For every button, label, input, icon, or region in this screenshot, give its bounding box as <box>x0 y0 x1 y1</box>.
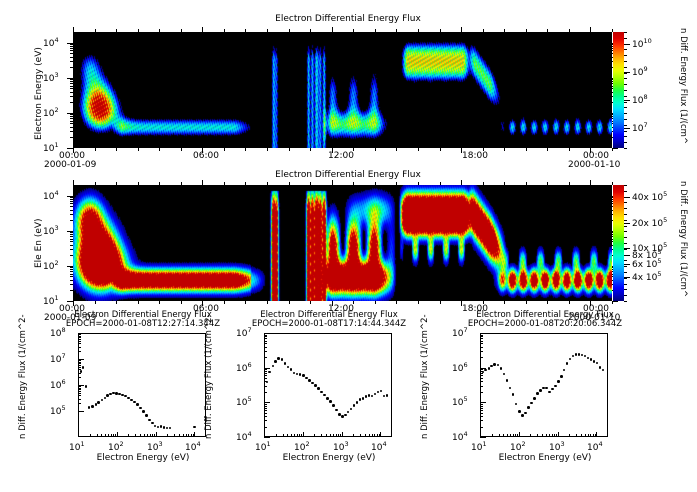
axis-tick <box>150 434 151 437</box>
axis-tick <box>365 434 366 437</box>
spectrum-1-x-tick: 101 <box>69 440 85 453</box>
axis-tick <box>70 239 73 240</box>
colorbar-tick-label: 108 <box>632 93 648 106</box>
spectrum-3-x-tick: 102 <box>510 440 526 453</box>
axis-tick <box>78 367 81 368</box>
spectrum-3-x-tick: 103 <box>549 440 565 453</box>
spectrum-1-y-tick: 105 <box>50 404 66 417</box>
axis-tick <box>321 434 322 437</box>
axis-tick <box>193 434 194 437</box>
data-point <box>596 362 599 365</box>
data-point <box>104 397 107 400</box>
axis-tick <box>264 408 267 409</box>
axis-tick <box>128 434 129 437</box>
axis-tick <box>310 29 311 32</box>
axis-tick <box>181 301 182 304</box>
axis-tick <box>310 182 311 185</box>
axis-tick <box>380 432 381 437</box>
axis-tick <box>353 29 354 32</box>
axis-tick <box>549 434 550 437</box>
colorbar-tick-label: 1010 <box>632 37 652 50</box>
spectrum-1-x-tick: 104 <box>185 440 201 453</box>
axis-tick <box>224 148 225 151</box>
axis-tick <box>624 142 627 143</box>
data-point <box>302 374 305 377</box>
axis-tick <box>310 148 311 151</box>
axis-tick <box>542 434 543 437</box>
axis-tick <box>116 29 117 32</box>
data-point <box>518 410 521 413</box>
axis-tick <box>418 301 419 304</box>
data-point <box>350 408 353 411</box>
colorbar-tick-label: 20x 105 <box>632 216 667 229</box>
axis-tick <box>70 249 73 250</box>
axis-tick <box>480 347 483 348</box>
axis-tick <box>612 148 613 151</box>
spectrum-3-y-tick: 104 <box>452 430 468 443</box>
data-point <box>524 412 527 415</box>
data-point <box>85 385 88 388</box>
data-point <box>503 373 506 376</box>
axis-tick <box>569 29 570 32</box>
axis-tick <box>418 148 419 151</box>
axis-tick <box>624 266 627 267</box>
axis-tick <box>78 337 81 338</box>
axis-tick <box>78 399 81 400</box>
axis-tick <box>264 381 267 382</box>
axis-tick <box>78 343 81 344</box>
axis-tick <box>396 182 397 185</box>
axis-tick <box>70 199 73 200</box>
axis-tick <box>289 29 290 32</box>
axis-tick <box>303 432 304 437</box>
panel1-xtick-1: 06:00 <box>193 151 219 161</box>
axis-tick <box>480 336 483 337</box>
axis-tick <box>375 182 376 185</box>
data-point <box>136 403 139 406</box>
axis-tick <box>624 260 627 261</box>
axis-tick <box>264 373 267 374</box>
axis-tick <box>569 434 570 437</box>
axis-tick <box>138 148 139 151</box>
axis-tick <box>353 182 354 185</box>
axis-tick <box>70 83 73 84</box>
axis-tick <box>624 107 627 108</box>
data-point <box>97 401 100 404</box>
axis-tick <box>70 48 73 49</box>
data-point <box>268 371 271 374</box>
data-point <box>484 369 487 372</box>
axis-tick <box>70 232 73 233</box>
data-point <box>362 397 365 400</box>
axis-tick <box>264 333 270 334</box>
axis-tick <box>369 434 370 437</box>
axis-tick <box>70 137 73 138</box>
axis-tick <box>585 434 586 437</box>
axis-tick <box>480 406 483 407</box>
axis-tick <box>283 434 284 437</box>
axis-tick <box>287 434 288 437</box>
axis-tick <box>264 427 267 428</box>
spectrum-2-y-tick: 107 <box>236 326 252 339</box>
axis-tick <box>480 437 486 438</box>
axis-tick <box>70 88 73 89</box>
axis-tick <box>70 206 73 207</box>
axis-tick <box>70 284 73 285</box>
axis-tick <box>624 301 627 302</box>
axis-tick <box>138 301 139 304</box>
axis-tick <box>624 113 627 114</box>
axis-tick <box>101 434 102 437</box>
panel1-xtick-2: 12:00 <box>328 151 354 161</box>
axis-tick <box>202 27 203 32</box>
axis-tick <box>67 43 73 44</box>
axis-tick <box>377 434 378 437</box>
axis-tick <box>624 237 627 238</box>
axis-tick <box>264 392 267 393</box>
axis-tick <box>70 114 73 115</box>
data-point <box>521 414 524 417</box>
axis-tick <box>264 369 267 370</box>
axis-tick <box>480 381 483 382</box>
axis-tick <box>461 27 462 32</box>
axis-tick <box>624 264 630 265</box>
data-point <box>317 387 320 390</box>
axis-tick <box>264 351 267 352</box>
y-tick-label: 101 <box>43 141 59 154</box>
axis-tick <box>504 29 505 32</box>
data-point <box>335 409 338 412</box>
axis-tick <box>480 427 483 428</box>
axis-tick <box>483 182 484 185</box>
axis-tick <box>138 29 139 32</box>
y-tick-label: 102 <box>43 106 59 119</box>
axis-tick <box>624 131 627 132</box>
axis-tick <box>276 434 277 437</box>
axis-tick <box>70 280 73 281</box>
data-point <box>356 401 359 404</box>
axis-tick <box>590 180 591 185</box>
data-point <box>274 360 277 363</box>
axis-tick <box>224 29 225 32</box>
axis-tick <box>624 128 630 129</box>
axis-tick <box>507 434 508 437</box>
axis-tick <box>70 220 73 221</box>
data-point <box>512 393 515 396</box>
axis-tick <box>264 413 267 414</box>
axis-tick <box>70 92 73 93</box>
axis-tick <box>624 38 627 39</box>
y-tick-label: 103 <box>43 71 59 84</box>
axis-tick <box>624 78 627 79</box>
axis-tick <box>330 434 331 437</box>
data-point <box>88 406 91 409</box>
axis-tick <box>264 406 267 407</box>
data-point <box>145 414 148 417</box>
axis-tick <box>374 434 375 437</box>
axis-tick <box>624 49 627 50</box>
axis-tick <box>70 290 73 291</box>
axis-tick <box>480 357 483 358</box>
axis-tick <box>95 148 96 151</box>
axis-tick <box>480 386 483 387</box>
data-point <box>272 365 275 368</box>
data-point <box>148 419 151 422</box>
axis-tick <box>526 29 527 32</box>
spectrum-2-xlabel: Electron Energy (eV) <box>229 453 429 463</box>
axis-tick <box>593 434 594 437</box>
axis-tick <box>264 416 267 417</box>
axis-tick <box>590 434 591 437</box>
data-point <box>548 391 551 394</box>
axis-tick <box>70 214 73 215</box>
spectrum-2-ylabel: n Diff. Energy Flux (1/(cm^2- <box>204 314 214 439</box>
axis-tick <box>480 404 483 405</box>
data-point <box>314 384 317 387</box>
data-point <box>545 387 548 390</box>
axis-tick <box>144 434 145 437</box>
axis-tick <box>483 29 484 32</box>
axis-tick <box>537 434 538 437</box>
axis-tick <box>70 274 73 275</box>
axis-tick <box>289 182 290 185</box>
axis-tick <box>70 234 73 235</box>
axis-tick <box>554 434 555 437</box>
axis-tick <box>116 182 117 185</box>
axis-tick <box>624 226 627 227</box>
panel1-colorbar-gradient <box>613 32 624 148</box>
spectrum-3-y-tick: 107 <box>452 326 468 339</box>
axis-tick <box>510 434 511 437</box>
axis-tick <box>70 81 73 82</box>
axis-tick <box>179 434 180 437</box>
axis-tick <box>440 29 441 32</box>
axis-tick <box>624 278 627 279</box>
axis-tick <box>624 197 627 198</box>
axis-tick <box>135 434 136 437</box>
axis-tick <box>78 351 81 352</box>
data-point <box>374 393 377 396</box>
axis-tick <box>480 341 483 342</box>
data-point <box>488 367 491 370</box>
axis-tick <box>418 29 419 32</box>
data-point <box>497 364 500 367</box>
y-tick-label: 101 <box>43 294 59 307</box>
axis-tick <box>480 335 483 336</box>
axis-tick <box>624 289 627 290</box>
axis-tick <box>519 432 520 437</box>
axis-tick <box>167 434 168 437</box>
axis-tick <box>360 434 361 437</box>
axis-tick <box>267 182 268 185</box>
axis-tick <box>117 432 118 437</box>
axis-tick <box>526 301 527 304</box>
axis-tick <box>624 96 627 97</box>
axis-tick <box>78 365 81 366</box>
panel1-colorbar-label: n Diff. Energy Flux (1/(cm^ <box>678 28 688 144</box>
data-point <box>493 363 496 366</box>
spectrum-1-y-tick: 106 <box>50 378 66 391</box>
axis-tick <box>152 434 153 437</box>
axis-tick <box>480 416 483 417</box>
axis-tick <box>73 180 74 185</box>
panel1-plot-area[interactable] <box>73 32 612 148</box>
panel1-ylabel: Electron Energy (eV) <box>34 47 44 140</box>
axis-tick <box>624 84 627 85</box>
data-point <box>515 403 518 406</box>
axis-tick <box>461 180 462 185</box>
axis-tick <box>301 434 302 437</box>
colorbar-tick-label: 107 <box>632 121 648 134</box>
data-point <box>551 388 554 391</box>
axis-tick <box>245 29 246 32</box>
axis-tick <box>480 378 483 379</box>
data-point <box>284 362 287 365</box>
axis-tick <box>504 182 505 185</box>
spectrum-2-y-tick: 106 <box>236 361 252 374</box>
axis-tick <box>526 182 527 185</box>
axis-tick <box>492 434 493 437</box>
data-point <box>277 357 280 360</box>
axis-tick <box>624 136 627 137</box>
axis-tick <box>70 121 73 122</box>
data-point <box>536 392 539 395</box>
axis-tick <box>159 148 160 151</box>
data-point <box>599 366 602 369</box>
axis-tick <box>267 301 268 304</box>
axis-tick <box>95 29 96 32</box>
spectrum-2-y-tick: 104 <box>236 430 252 443</box>
y-tick-label: 102 <box>43 259 59 272</box>
axis-tick <box>624 295 627 296</box>
axis-tick <box>78 389 81 390</box>
panel2-colorbar[interactable] <box>613 185 624 301</box>
axis-tick <box>154 434 155 437</box>
axis-tick <box>264 336 267 337</box>
axis-tick <box>264 437 270 438</box>
axis-tick <box>70 118 73 119</box>
axis-tick <box>105 434 106 437</box>
axis-tick <box>70 116 73 117</box>
axis-tick <box>596 432 597 437</box>
axis-tick <box>116 148 117 151</box>
axis-tick <box>299 434 300 437</box>
spectrum-1-xlabel: Electron Energy (eV) <box>43 453 243 463</box>
axis-tick <box>375 29 376 32</box>
axis-tick <box>624 231 627 232</box>
axis-tick <box>440 148 441 151</box>
axis-tick <box>590 27 591 32</box>
axis-tick <box>70 127 73 128</box>
axis-tick <box>480 402 486 403</box>
axis-tick <box>202 180 203 185</box>
panel1-title: Electron Differential Energy Flux <box>228 14 468 24</box>
axis-tick <box>515 434 516 437</box>
axis-tick <box>70 269 73 270</box>
axis-tick <box>78 360 81 361</box>
axis-tick <box>624 284 627 285</box>
axis-tick <box>624 44 627 45</box>
data-point <box>142 410 145 413</box>
data-point <box>151 422 154 425</box>
axis-tick <box>67 231 73 232</box>
spectrum-2-x-tick: 101 <box>255 440 271 453</box>
panel1-spectrogram-image <box>73 32 612 148</box>
axis-tick <box>188 434 189 437</box>
axis-tick <box>186 434 187 437</box>
panel1-date-left: 2000-01-09 <box>44 160 96 170</box>
axis-tick <box>181 29 182 32</box>
spectrum-1-y-tick: 108 <box>50 326 66 339</box>
axis-tick <box>503 434 504 437</box>
axis-tick <box>159 301 160 304</box>
axis-tick <box>372 434 373 437</box>
spectrum-3-x-tick: 101 <box>471 440 487 453</box>
data-point <box>166 427 169 430</box>
data-point <box>347 411 350 414</box>
axis-tick <box>480 432 481 437</box>
data-point <box>506 379 509 382</box>
panel1-colorbar[interactable] <box>613 32 624 148</box>
data-point <box>320 391 323 394</box>
axis-tick <box>267 148 268 151</box>
axis-tick <box>78 403 81 404</box>
axis-tick <box>264 335 267 336</box>
axis-tick <box>111 434 112 437</box>
axis-tick <box>547 148 548 151</box>
axis-tick <box>70 61 73 62</box>
axis-tick <box>375 301 376 304</box>
panel2-plot-area[interactable] <box>73 185 612 301</box>
panel2-colorbar-label: n Diff. Energy Flux (1/(cm^ <box>678 181 688 297</box>
axis-tick <box>546 434 547 437</box>
spectrum-3-x-tick: 104 <box>587 440 603 453</box>
axis-tick <box>70 201 73 202</box>
data-point <box>371 395 374 398</box>
axis-tick <box>113 434 114 437</box>
axis-tick <box>70 44 73 45</box>
axis-tick <box>624 202 627 203</box>
axis-tick <box>526 148 527 151</box>
axis-tick <box>70 46 73 47</box>
axis-tick <box>547 182 548 185</box>
axis-tick <box>338 434 339 437</box>
axis-tick <box>569 148 570 151</box>
axis-tick <box>480 333 486 334</box>
data-point <box>602 369 605 372</box>
data-point <box>139 407 142 410</box>
axis-tick <box>624 55 627 56</box>
axis-tick <box>70 276 73 277</box>
axis-tick <box>333 434 334 437</box>
axis-tick <box>191 434 192 437</box>
axis-tick <box>174 434 175 437</box>
data-point <box>101 399 104 402</box>
spectrum-2-x-tick: 102 <box>294 440 310 453</box>
axis-tick <box>264 371 267 372</box>
data-point <box>344 414 347 417</box>
axis-tick <box>624 67 627 68</box>
spectrum-3-xlabel: Electron Energy (eV) <box>445 453 645 463</box>
axis-tick <box>147 434 148 437</box>
axis-tick <box>78 369 81 370</box>
axis-tick <box>78 347 81 348</box>
data-point <box>380 390 383 393</box>
axis-tick <box>78 393 81 394</box>
data-point <box>193 426 196 429</box>
axis-tick <box>78 432 79 437</box>
axis-tick <box>547 301 548 304</box>
